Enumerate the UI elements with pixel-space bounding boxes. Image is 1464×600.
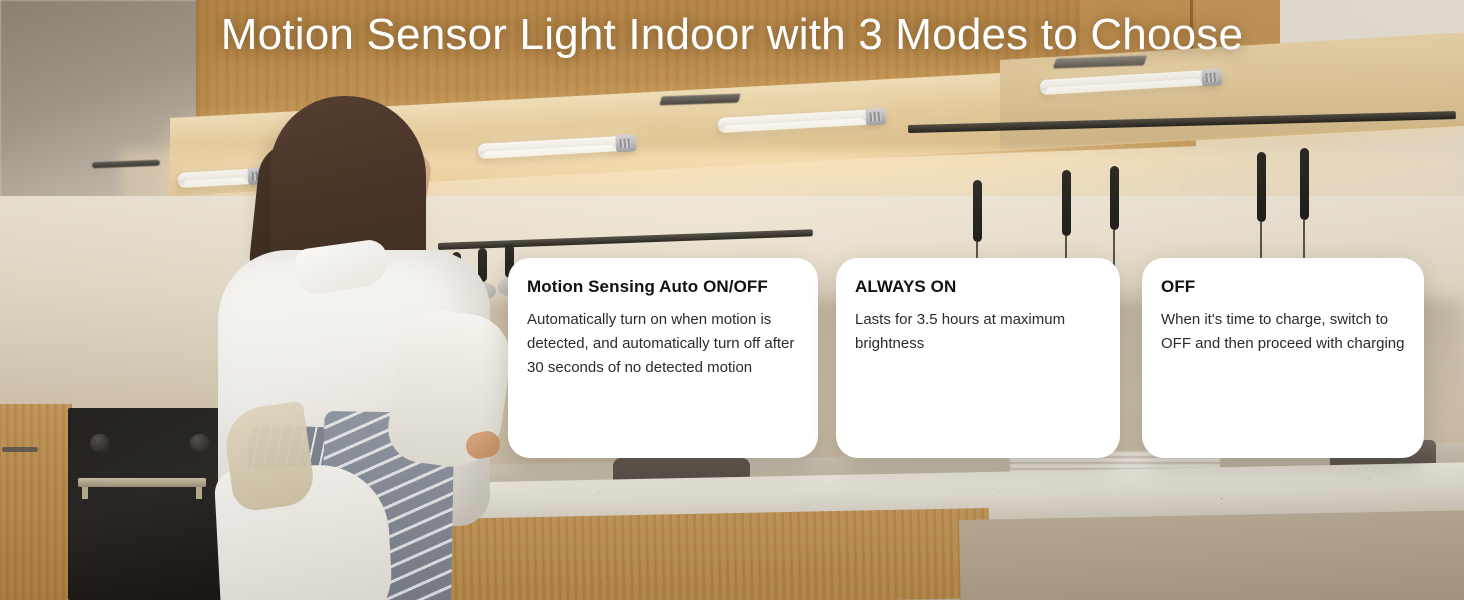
mode-card-body: When it's time to charge, switch to OFF … [1161,308,1408,356]
mode-card-heading: ALWAYS ON [855,276,1106,298]
product-banner: Motion Sensor Light Indoor with 3 Modes … [0,0,1464,600]
mode-card-heading: Motion Sensing Auto ON/OFF [527,276,804,298]
mode-cards: Motion Sensing Auto ON/OFF Automatically… [0,0,1464,600]
mode-card-body: Lasts for 3.5 hours at maximum brightnes… [855,308,1104,356]
mode-card-always-on[interactable]: ALWAYS ON Lasts for 3.5 hours at maximum… [836,258,1120,458]
mode-card-motion-sensing[interactable]: Motion Sensing Auto ON/OFF Automatically… [508,258,818,458]
mode-card-heading: OFF [1161,276,1410,298]
mode-card-body: Automatically turn on when motion is det… [527,308,802,380]
mode-card-off[interactable]: OFF When it's time to charge, switch to … [1142,258,1424,458]
